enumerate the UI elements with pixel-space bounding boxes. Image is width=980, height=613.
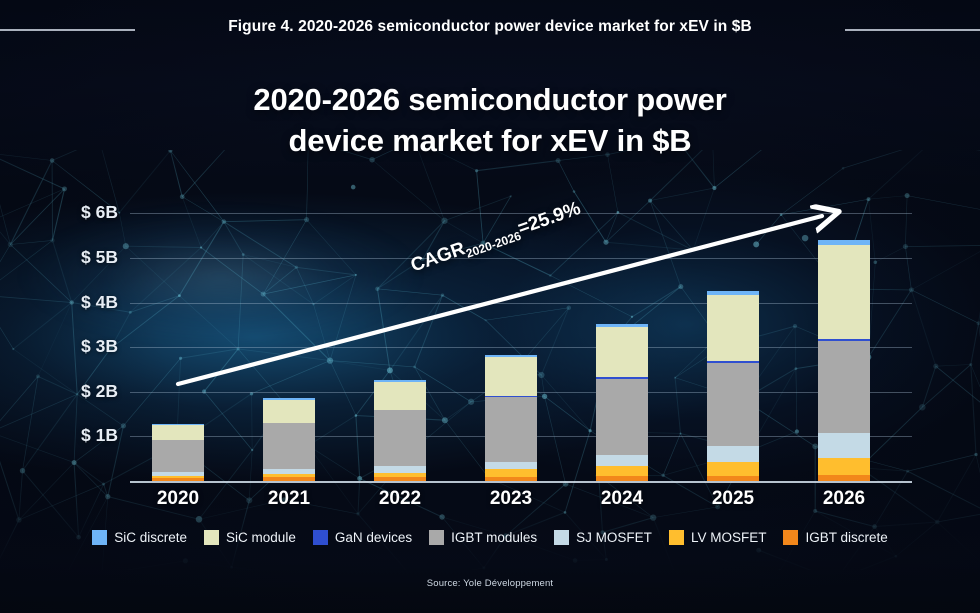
bar-2025[interactable] (707, 0, 759, 481)
bar-segment-sj-mosfet[interactable] (485, 462, 537, 469)
x-axis-tick-label-2021: 2021 (229, 488, 349, 510)
y-axis-tick-label: $ 3B (0, 336, 118, 357)
bar-segment-igbt-modules[interactable] (818, 341, 870, 433)
bar-segment-sj-mosfet[interactable] (707, 446, 759, 462)
x-axis-tick-label-2023: 2023 (451, 488, 571, 510)
y-axis-tick-label: $ 1B (0, 425, 118, 446)
legend-swatch-icon (429, 530, 444, 545)
legend-label: IGBT modules (451, 530, 537, 545)
bar-segment-sic-module[interactable] (152, 425, 204, 440)
legend-item-igbt-discrete[interactable]: IGBT discrete (783, 530, 887, 545)
bar-segment-sic-discrete[interactable] (263, 398, 315, 400)
legend-swatch-icon (783, 530, 798, 545)
x-axis-tick-label-2020: 2020 (118, 488, 238, 510)
bar-segment-sic-discrete[interactable] (374, 380, 426, 382)
bar-segment-sic-module[interactable] (485, 357, 537, 396)
x-axis-line (130, 481, 912, 483)
legend-item-sj-mosfet[interactable]: SJ MOSFET (554, 530, 652, 545)
bar-segment-sj-mosfet[interactable] (263, 469, 315, 474)
legend-item-igbt-modules[interactable]: IGBT modules (429, 530, 537, 545)
legend-item-gan-devices[interactable]: GaN devices (313, 530, 412, 545)
x-axis-tick-label-2026: 2026 (784, 488, 904, 510)
legend-label: SJ MOSFET (576, 530, 652, 545)
bar-segment-gan-devices[interactable] (818, 339, 870, 342)
legend-label: IGBT discrete (805, 530, 887, 545)
bar-2021[interactable] (263, 0, 315, 481)
legend-swatch-icon (92, 530, 107, 545)
bar-segment-igbt-modules[interactable] (485, 397, 537, 462)
y-axis-tick-label: $ 6B (0, 202, 118, 223)
bar-segment-igbt-modules[interactable] (152, 440, 204, 472)
bar-segment-lv-mosfet[interactable] (152, 476, 204, 478)
legend-item-sic-discrete[interactable]: SiC discrete (92, 530, 187, 545)
bar-segment-sic-discrete[interactable] (152, 424, 204, 425)
bar-segment-lv-mosfet[interactable] (596, 466, 648, 476)
legend-swatch-icon (313, 530, 328, 545)
bar-segment-gan-devices[interactable] (707, 361, 759, 363)
x-axis-tick-label-2022: 2022 (340, 488, 460, 510)
bar-segment-sic-module[interactable] (818, 245, 870, 339)
legend-swatch-icon (204, 530, 219, 545)
bar-segment-sic-module[interactable] (707, 295, 759, 361)
legend-item-sic-module[interactable]: SiC module (204, 530, 296, 545)
bar-segment-lv-mosfet[interactable] (374, 473, 426, 477)
bar-2024[interactable] (596, 0, 648, 481)
chart-legend: SiC discreteSiC moduleGaN devicesIGBT mo… (0, 530, 980, 545)
bar-segment-sj-mosfet[interactable] (152, 472, 204, 476)
bar-segment-sic-discrete[interactable] (485, 355, 537, 358)
source-note: Source: Yole Développement (0, 578, 980, 589)
bar-segment-lv-mosfet[interactable] (707, 462, 759, 475)
bar-2026[interactable] (818, 0, 870, 481)
y-axis-tick-label: $ 5B (0, 247, 118, 268)
legend-label: SiC discrete (114, 530, 187, 545)
bar-segment-sj-mosfet[interactable] (374, 466, 426, 472)
bar-segment-sic-module[interactable] (596, 327, 648, 377)
legend-label: SiC module (226, 530, 296, 545)
bar-segment-sj-mosfet[interactable] (818, 433, 870, 458)
legend-label: GaN devices (335, 530, 412, 545)
bar-segment-lv-mosfet[interactable] (818, 458, 870, 475)
bar-segment-sic-module[interactable] (374, 382, 426, 410)
bar-segment-igbt-modules[interactable] (263, 423, 315, 468)
bar-segment-gan-devices[interactable] (485, 396, 537, 397)
bar-segment-igbt-modules[interactable] (707, 363, 759, 446)
bar-segment-sic-module[interactable] (263, 400, 315, 423)
x-axis-tick-label-2025: 2025 (673, 488, 793, 510)
legend-label: LV MOSFET (691, 530, 767, 545)
bar-segment-lv-mosfet[interactable] (485, 469, 537, 476)
bar-segment-igbt-modules[interactable] (596, 379, 648, 455)
bar-2022[interactable] (374, 0, 426, 481)
legend-swatch-icon (554, 530, 569, 545)
chart-plot-area: $ 1B$ 2B$ 3B$ 4B$ 5B$ 6B 202020212022202… (0, 0, 980, 613)
legend-swatch-icon (669, 530, 684, 545)
bar-segment-igbt-modules[interactable] (374, 410, 426, 466)
bar-segment-sic-discrete[interactable] (818, 240, 870, 245)
bar-2020[interactable] (152, 0, 204, 481)
bar-segment-gan-devices[interactable] (596, 377, 648, 379)
bar-segment-sj-mosfet[interactable] (596, 455, 648, 467)
bar-segment-sic-discrete[interactable] (707, 291, 759, 295)
bar-segment-lv-mosfet[interactable] (263, 474, 315, 478)
legend-item-lv-mosfet[interactable]: LV MOSFET (669, 530, 767, 545)
x-axis-tick-label-2024: 2024 (562, 488, 682, 510)
y-axis-tick-label: $ 2B (0, 381, 118, 402)
bar-segment-sic-discrete[interactable] (596, 324, 648, 327)
y-axis-tick-label: $ 4B (0, 292, 118, 313)
